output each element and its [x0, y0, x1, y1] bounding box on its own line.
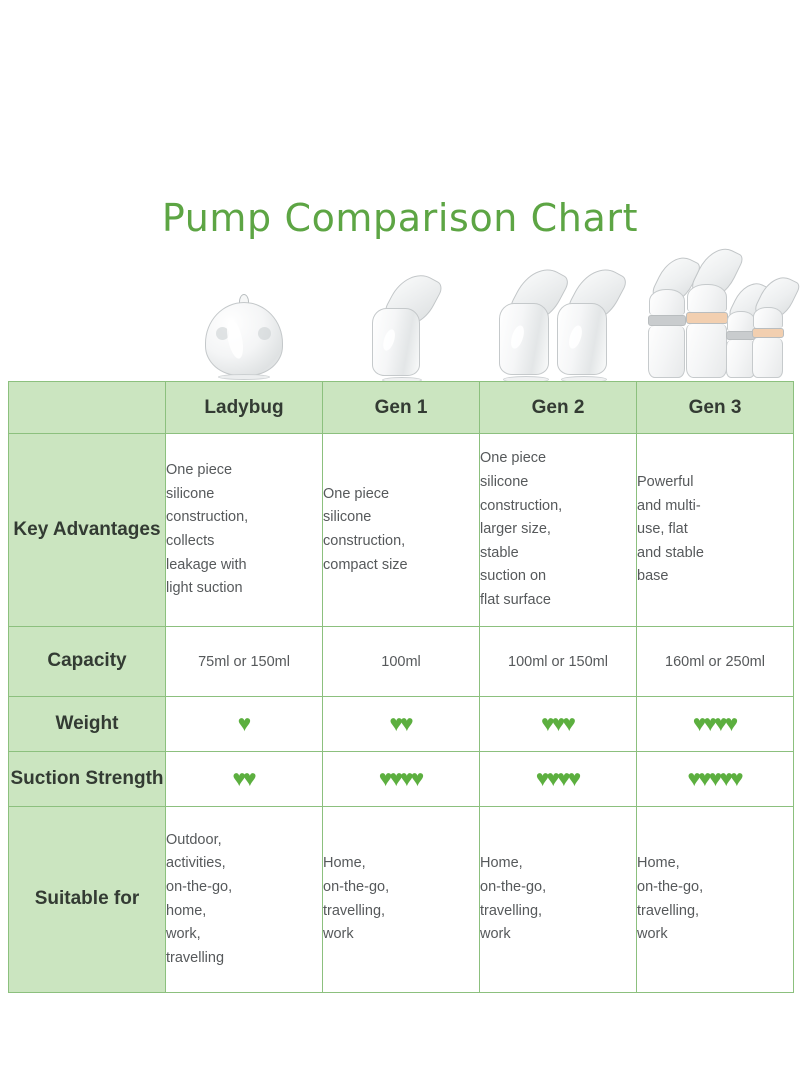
ladybug-dot-right: [258, 327, 271, 340]
ladybug-base: [218, 374, 270, 380]
gen3-bottle-4-jar: [752, 338, 783, 378]
gen2-left-body: [499, 303, 549, 375]
gen2-pump-left: [496, 268, 562, 380]
heart-icon: ♥: [568, 767, 581, 790]
heart-icon: ♥: [400, 712, 413, 735]
cell-key-advantages-gen3: Powerful and multi- use, flat and stable…: [637, 434, 794, 627]
header-cell-gen1: Gen 1: [323, 382, 480, 434]
gen3-bottle-2-ring: [686, 312, 728, 324]
gen2-pump-right: [554, 268, 620, 380]
page-title: Pump Comparison Chart: [0, 196, 800, 240]
product-image-gen3: [636, 250, 793, 380]
gen3-bottle-2-jar: [686, 324, 727, 378]
cell-capacity-gen2: 100ml or 150ml: [480, 627, 637, 697]
row-label-suitable-for: Suitable for: [9, 807, 166, 993]
product-image-gen2: [479, 250, 636, 380]
cell-suitable-gen3: Home, on-the-go, travelling, work: [637, 807, 794, 993]
cell-suitable-gen1: Home, on-the-go, travelling, work: [323, 807, 480, 993]
cell-suction-gen1: ♥♥♥♥: [323, 752, 480, 807]
product-image-ladybug: [165, 250, 322, 380]
pump-comparison-table: Ladybug Gen 1 Gen 2 Gen 3 Key Advantages…: [8, 381, 794, 993]
cell-key-advantages-gen1: One piece silicone construction, compact…: [323, 434, 480, 627]
cell-suitable-ladybug: Outdoor, activities, on-the-go, home, wo…: [166, 807, 323, 993]
row-label-capacity: Capacity: [9, 627, 166, 697]
heart-icon: ♥: [243, 767, 256, 790]
image-strip-spacer: [8, 250, 165, 380]
gen3-bottle-collection-icon: [645, 254, 785, 380]
gen1-body: [372, 308, 420, 376]
heart-icon: ♥: [562, 712, 575, 735]
table-row-suitable-for: Suitable for Outdoor, activities, on-the…: [9, 807, 794, 993]
gen2-right-body: [557, 303, 607, 375]
cell-weight-gen1: ♥♥: [323, 697, 480, 752]
cell-capacity-gen1: 100ml: [323, 627, 480, 697]
gen3-bottle-4: [751, 307, 785, 378]
heart-icon: ♥: [411, 767, 424, 790]
gen3-bottle-1-neck: [649, 289, 685, 315]
table-row-capacity: Capacity 75ml or 150ml 100ml 100ml or 15…: [9, 627, 794, 697]
table-header-row: Ladybug Gen 1 Gen 2 Gen 3: [9, 382, 794, 434]
row-label-key-advantages: Key Advantages: [9, 434, 166, 627]
gen3-bottle-1-ring: [648, 315, 686, 326]
cell-suction-gen3: ♥♥♥♥♥: [637, 752, 794, 807]
heart-icon: ♥: [238, 712, 251, 735]
gen3-bottle-2: [683, 284, 731, 378]
cell-suction-gen2: ♥♥♥♥: [480, 752, 637, 807]
table-row-weight: Weight ♥ ♥♥ ♥♥♥ ♥♥♥♥: [9, 697, 794, 752]
cell-weight-gen2: ♥♥♥: [480, 697, 637, 752]
header-cell-gen3: Gen 3: [637, 382, 794, 434]
table-row-key-advantages: Key Advantages One piece silicone constr…: [9, 434, 794, 627]
row-label-weight: Weight: [9, 697, 166, 752]
heart-icon: ♥: [730, 767, 743, 790]
heart-icon: ♥: [725, 712, 738, 735]
gen3-bottle-1-jar: [648, 326, 685, 378]
row-label-suction-strength: Suction Strength: [9, 752, 166, 807]
ladybug-shell: [205, 302, 283, 376]
gen1-silicone-pump-icon: [366, 274, 436, 380]
cell-suitable-gen2: Home, on-the-go, travelling, work: [480, 807, 637, 993]
ladybug-silicone-pump-icon: [203, 294, 285, 380]
pump-comparison-page: Pump Comparison Chart: [0, 0, 800, 1091]
ladybug-dot-left: [216, 327, 229, 340]
cell-key-advantages-gen2: One piece silicone construction, larger …: [480, 434, 637, 627]
header-cell-blank: [9, 382, 166, 434]
gen3-bottle-2-neck: [687, 284, 727, 312]
product-image-strip: [8, 250, 793, 380]
cell-suction-ladybug: ♥♥: [166, 752, 323, 807]
gen3-bottle-4-ring: [752, 328, 784, 338]
cell-weight-ladybug: ♥: [166, 697, 323, 752]
table-row-suction-strength: Suction Strength ♥♥ ♥♥♥♥ ♥♥♥♥ ♥♥♥♥♥: [9, 752, 794, 807]
gen3-bottle-4-neck: [753, 307, 783, 328]
cell-capacity-ladybug: 75ml or 150ml: [166, 627, 323, 697]
cell-capacity-gen3: 160ml or 250ml: [637, 627, 794, 697]
header-cell-ladybug: Ladybug: [166, 382, 323, 434]
cell-key-advantages-ladybug: One piece silicone construction, collect…: [166, 434, 323, 627]
gen2-silicone-pump-pair-icon: [496, 262, 620, 380]
header-cell-gen2: Gen 2: [480, 382, 637, 434]
product-image-gen1: [322, 250, 479, 380]
cell-weight-gen3: ♥♥♥♥: [637, 697, 794, 752]
